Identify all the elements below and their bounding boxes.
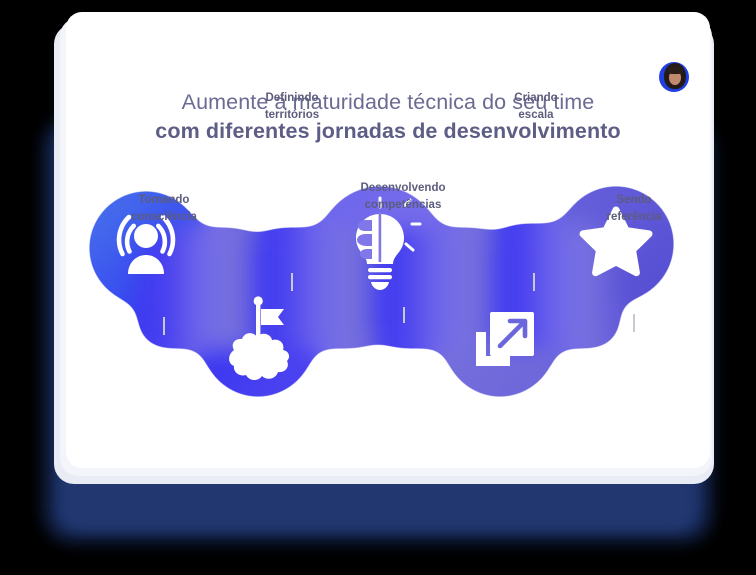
page-title: Aumente a maturidade técnica do seu time… [66, 88, 710, 146]
connector-tick-5 [633, 314, 635, 332]
page-title-line-1: Aumente a maturidade técnica do seu time [66, 88, 710, 117]
journey-label-tomando-consciencia: Tomando consciência [104, 192, 224, 225]
presentation-card: Aumente a maturidade técnica do seu time… [66, 12, 710, 468]
connector-tick-4 [533, 273, 535, 291]
page-title-line-2: com diferentes jornadas de desenvolvimen… [66, 117, 710, 146]
screenshot-stage: Aumente a maturidade técnica do seu time… [0, 0, 756, 575]
journey-label-definindo-territorios: Definindo territórios [232, 90, 352, 123]
connector-tick-1 [163, 317, 165, 335]
journey-label-desenvolvendo-competencias: Desenvolvendo competências [328, 180, 478, 213]
journey-label-criando-escala: Criando escala [476, 90, 596, 123]
connector-tick-3 [403, 307, 405, 323]
connector-tick-2 [291, 273, 293, 291]
avatar-fringe-shape [667, 66, 683, 74]
journey-label-sendo-referencia: Sendo referência [574, 192, 694, 225]
